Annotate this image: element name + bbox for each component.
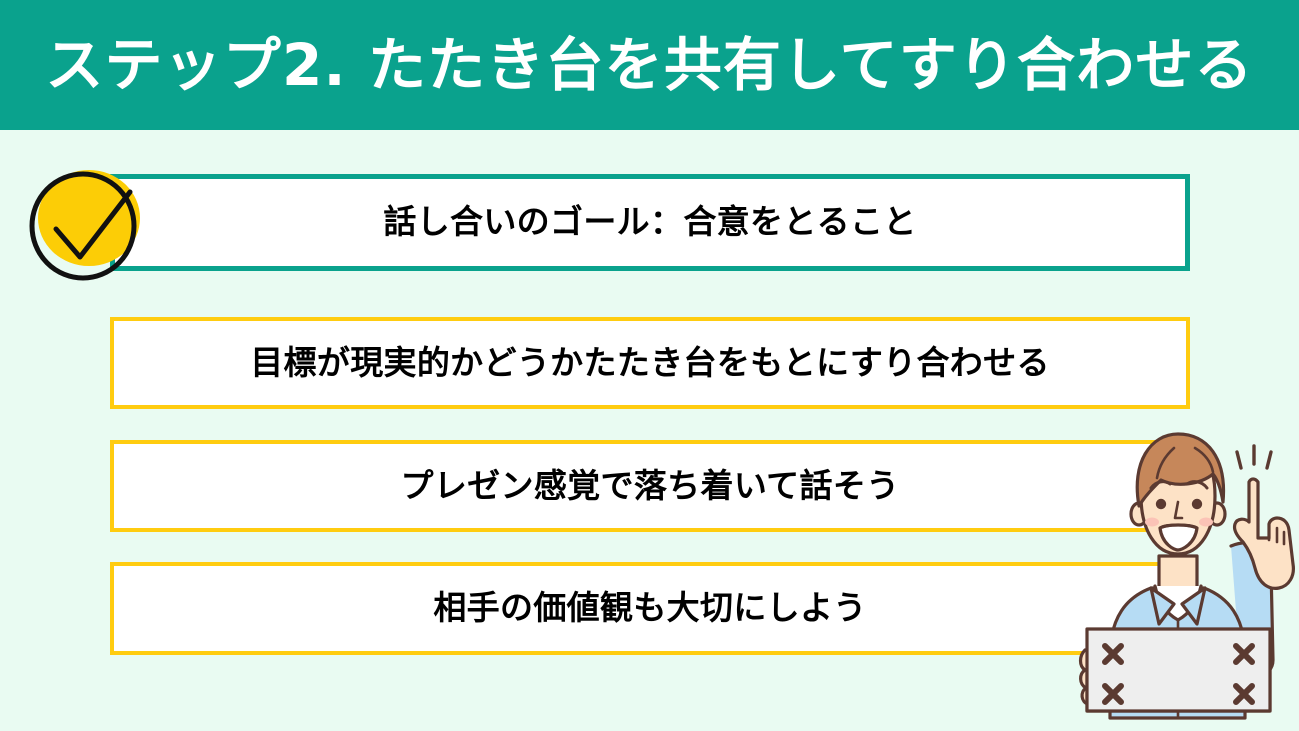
page-title: ステップ2. たたき台を共有してすり合わせる <box>45 36 1253 94</box>
list-item-label: 話し合いのゴール：合意をとること <box>383 204 916 240</box>
list-item[interactable]: 目標が現実的かどうかたたき台をもとにすり合わせる <box>110 317 1190 409</box>
list-item[interactable]: プレゼン感覚で落ち着いて話そう <box>110 440 1190 532</box>
slide-root: ステップ2. たたき台を共有してすり合わせる 話し合いのゴール：合意をとること … <box>0 0 1299 731</box>
check-circle-icon <box>26 166 150 284</box>
list-item-label: 相手の価値観も大切にしよう <box>433 590 866 626</box>
list-item[interactable]: 相手の価値観も大切にしよう <box>110 562 1190 655</box>
man-holding-board-illustration <box>1055 418 1299 731</box>
slide-header: ステップ2. たたき台を共有してすり合わせる <box>0 0 1299 130</box>
list-item[interactable]: 話し合いのゴール：合意をとること <box>110 174 1190 271</box>
list-item-label: 目標が現実的かどうかたたき台をもとにすり合わせる <box>250 345 1050 381</box>
list-item-label: プレゼン感覚で落ち着いて話そう <box>401 468 900 504</box>
